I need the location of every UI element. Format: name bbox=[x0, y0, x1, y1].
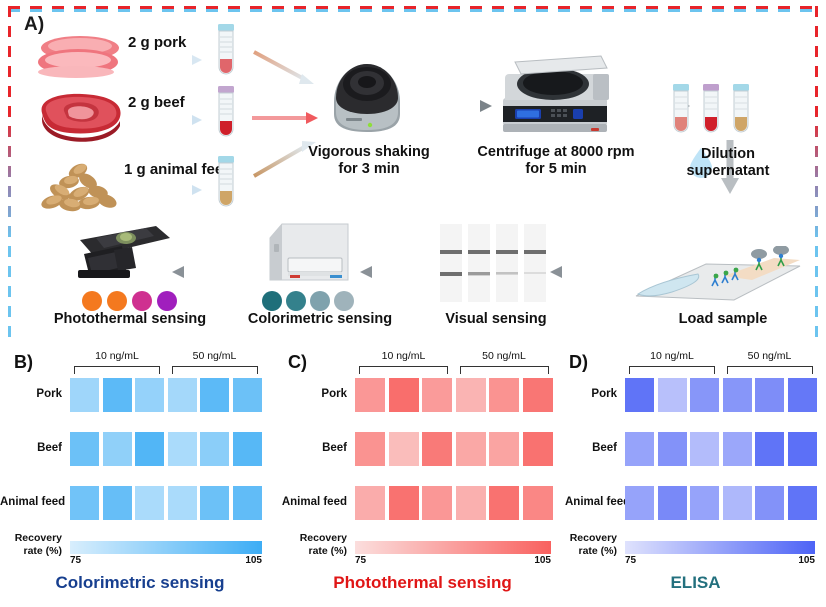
heatmap-cell bbox=[103, 378, 132, 412]
heatmap-cell bbox=[456, 378, 486, 412]
arrow-load-to-visual bbox=[548, 264, 624, 280]
heatmap-cell bbox=[135, 486, 164, 520]
heatmap-cell bbox=[658, 486, 687, 520]
animal-feed-icon bbox=[32, 156, 130, 212]
workflow-label-colorimetric-sensing: Colorimetric sensing bbox=[240, 311, 400, 328]
heatmap-cell bbox=[422, 432, 452, 466]
concentration-bracket-0 bbox=[629, 366, 715, 374]
heatmap-cell bbox=[200, 378, 229, 412]
workflow-label-photothermal-sensing: Photothermal sensing bbox=[30, 311, 230, 328]
visual-sensing-strips-icon bbox=[438, 218, 550, 310]
arrow-shaker-to-centrifuge bbox=[420, 98, 498, 114]
heatmap-cell bbox=[135, 432, 164, 466]
heatmap-cell bbox=[489, 432, 519, 466]
tube-feed-icon bbox=[213, 156, 239, 212]
workflow-label-vigorous-shaking: Vigorous shaking for 3 min bbox=[304, 144, 434, 179]
heatmap-cell bbox=[389, 432, 419, 466]
panel-a-border-right bbox=[815, 6, 818, 340]
panel-d-elisa: D) 10 ng/mL50 ng/mLPorkBeefAnimal feedRe… bbox=[565, 344, 826, 607]
heatmap-cell bbox=[788, 486, 817, 520]
arrow-pork-to-tube bbox=[128, 54, 208, 68]
concentration-label-1: 50 ng/mL bbox=[168, 350, 262, 362]
concentration-bracket-0 bbox=[74, 366, 160, 374]
colorimetric-dots bbox=[260, 290, 356, 312]
heatmap-cell bbox=[755, 486, 784, 520]
heatmap-cell bbox=[755, 432, 784, 466]
heatmap-cell bbox=[355, 432, 385, 466]
tube-pork-icon bbox=[213, 24, 239, 80]
heatmap-cell bbox=[723, 432, 752, 466]
heatmap-cell bbox=[70, 378, 99, 412]
heatmap-cell bbox=[625, 378, 654, 412]
heatmap-cell bbox=[523, 432, 553, 466]
figure-root: A) bbox=[0, 0, 826, 607]
heatmap-cell bbox=[690, 432, 719, 466]
centrifuge-icon bbox=[495, 54, 615, 140]
photothermal-dots bbox=[80, 290, 180, 312]
arrow-tube-beef-to-shaker bbox=[252, 110, 324, 126]
heatmap-cell bbox=[489, 486, 519, 520]
heatmap-cell bbox=[103, 432, 132, 466]
heatmap-cell bbox=[389, 486, 419, 520]
heatmap-cell bbox=[658, 378, 687, 412]
colorbar-label: Recovery rate (%) bbox=[0, 532, 62, 558]
vortex-shaker-icon bbox=[324, 56, 410, 138]
row-label-beef: Beef bbox=[0, 442, 62, 454]
heatmap-cell bbox=[70, 486, 99, 520]
panel-c-photothermal: C) 10 ng/mL50 ng/mLPorkBeefAnimal feedRe… bbox=[280, 344, 565, 607]
row-label-animal-feed: Animal feed bbox=[565, 496, 617, 508]
concentration-bracket-0 bbox=[359, 366, 448, 374]
microplate-reader-icon bbox=[266, 218, 352, 284]
workflow-label-centrifuge: Centrifuge at 8000 rpm for 5 min bbox=[468, 144, 644, 179]
concentration-label-1: 50 ng/mL bbox=[456, 350, 553, 362]
smartphone-thermal-reader-icon bbox=[70, 224, 176, 288]
pork-meat-icon bbox=[36, 31, 122, 79]
heatmap-cell bbox=[103, 486, 132, 520]
colorbar bbox=[355, 541, 551, 554]
colorbar-label: Recovery rate (%) bbox=[280, 532, 347, 558]
supernatant-tube-feed-icon bbox=[728, 84, 754, 138]
heatmap-cell bbox=[755, 378, 784, 412]
heatmap-cell bbox=[233, 486, 262, 520]
heatmap-cell bbox=[625, 432, 654, 466]
heatmap-cell bbox=[523, 486, 553, 520]
heatmap-cell bbox=[200, 486, 229, 520]
panel-b-colorimetric: B) 10 ng/mL50 ng/mLPorkBeefAnimal feedRe… bbox=[0, 344, 280, 607]
heatmap-cell bbox=[690, 378, 719, 412]
colorbar-tick-max: 105 bbox=[795, 555, 815, 566]
heatmap-cell bbox=[70, 432, 99, 466]
heatmap-cell bbox=[788, 378, 817, 412]
row-label-pork: Pork bbox=[0, 388, 62, 400]
heatmap-cell bbox=[456, 432, 486, 466]
sample-label-pork: 2 g pork bbox=[128, 34, 186, 51]
heatmap-cell bbox=[723, 378, 752, 412]
heatmap-cell bbox=[690, 486, 719, 520]
colorbar-tick-min: 75 bbox=[70, 555, 81, 566]
supernatant-tube-beef-icon bbox=[698, 84, 724, 138]
heatmap-cell bbox=[489, 378, 519, 412]
row-label-pork: Pork bbox=[565, 388, 617, 400]
row-label-animal-feed: Animal feed bbox=[280, 496, 347, 508]
concentration-bracket-1 bbox=[172, 366, 258, 374]
heatmap-cell bbox=[456, 486, 486, 520]
heatmap-cell bbox=[233, 378, 262, 412]
arrow-visual-to-colorimetric bbox=[358, 264, 434, 280]
panel-a-border-bottom bbox=[8, 9, 818, 12]
arrow-feed-to-tube bbox=[128, 184, 208, 198]
colorbar-tick-max: 105 bbox=[242, 555, 262, 566]
arrow-colorimetric-to-photothermal bbox=[170, 264, 246, 280]
panel-d-letter: D) bbox=[569, 352, 588, 373]
heatmap-cell bbox=[389, 378, 419, 412]
arrow-tube-pork-to-shaker bbox=[252, 50, 324, 92]
heatmap-cell bbox=[233, 432, 262, 466]
heatmap-cell bbox=[658, 432, 687, 466]
panel-b-letter: B) bbox=[14, 352, 33, 373]
colorbar-tick-min: 75 bbox=[355, 555, 366, 566]
tube-beef-icon bbox=[213, 86, 239, 142]
concentration-label-1: 50 ng/mL bbox=[723, 350, 817, 362]
heatmap-cell bbox=[168, 432, 197, 466]
heatmap-cell bbox=[135, 378, 164, 412]
row-label-animal-feed: Animal feed bbox=[0, 496, 62, 508]
panel-a-workflow: A) bbox=[8, 6, 818, 340]
heatmap-cell bbox=[422, 378, 452, 412]
colorbar-label: Recovery rate (%) bbox=[565, 532, 617, 558]
concentration-bracket-1 bbox=[460, 366, 549, 374]
concentration-label-0: 10 ng/mL bbox=[355, 350, 452, 362]
heatmap-cell bbox=[168, 378, 197, 412]
colorbar bbox=[625, 541, 815, 554]
heatmap-cell bbox=[200, 432, 229, 466]
row-label-pork: Pork bbox=[280, 388, 347, 400]
colorbar bbox=[70, 541, 262, 554]
workflow-label-load-sample: Load sample bbox=[668, 311, 778, 328]
concentration-label-0: 10 ng/mL bbox=[70, 350, 164, 362]
panel-title-c: Photothermal sensing bbox=[280, 573, 565, 593]
arrow-beef-to-tube bbox=[128, 114, 208, 128]
row-label-beef: Beef bbox=[565, 442, 617, 454]
panel-title-b: Colorimetric sensing bbox=[0, 573, 280, 593]
heatmap-cell bbox=[355, 486, 385, 520]
heatmap-cell bbox=[168, 486, 197, 520]
heatmap-cell bbox=[788, 432, 817, 466]
heatmap-cell bbox=[422, 486, 452, 520]
concentration-bracket-1 bbox=[727, 366, 813, 374]
workflow-label-dilution-supernatant: Dilution supernatant bbox=[658, 146, 798, 181]
panel-c-letter: C) bbox=[288, 352, 307, 373]
sample-label-beef: 2 g beef bbox=[128, 94, 185, 111]
panel-title-d: ELISA bbox=[565, 573, 826, 593]
concentration-label-0: 10 ng/mL bbox=[625, 350, 719, 362]
beef-meat-icon bbox=[34, 91, 126, 143]
lateral-flow-strip-icon bbox=[624, 246, 804, 308]
row-label-beef: Beef bbox=[280, 442, 347, 454]
colorbar-tick-max: 105 bbox=[531, 555, 551, 566]
workflow-label-visual-sensing: Visual sensing bbox=[436, 311, 556, 328]
colorbar-tick-min: 75 bbox=[625, 555, 636, 566]
heatmap-cell bbox=[723, 486, 752, 520]
heatmap-cell bbox=[523, 378, 553, 412]
heatmap-cell bbox=[355, 378, 385, 412]
supernatant-tube-pork-icon bbox=[668, 84, 694, 138]
heatmap-cell bbox=[625, 486, 654, 520]
panel-a-border-left bbox=[8, 6, 11, 340]
